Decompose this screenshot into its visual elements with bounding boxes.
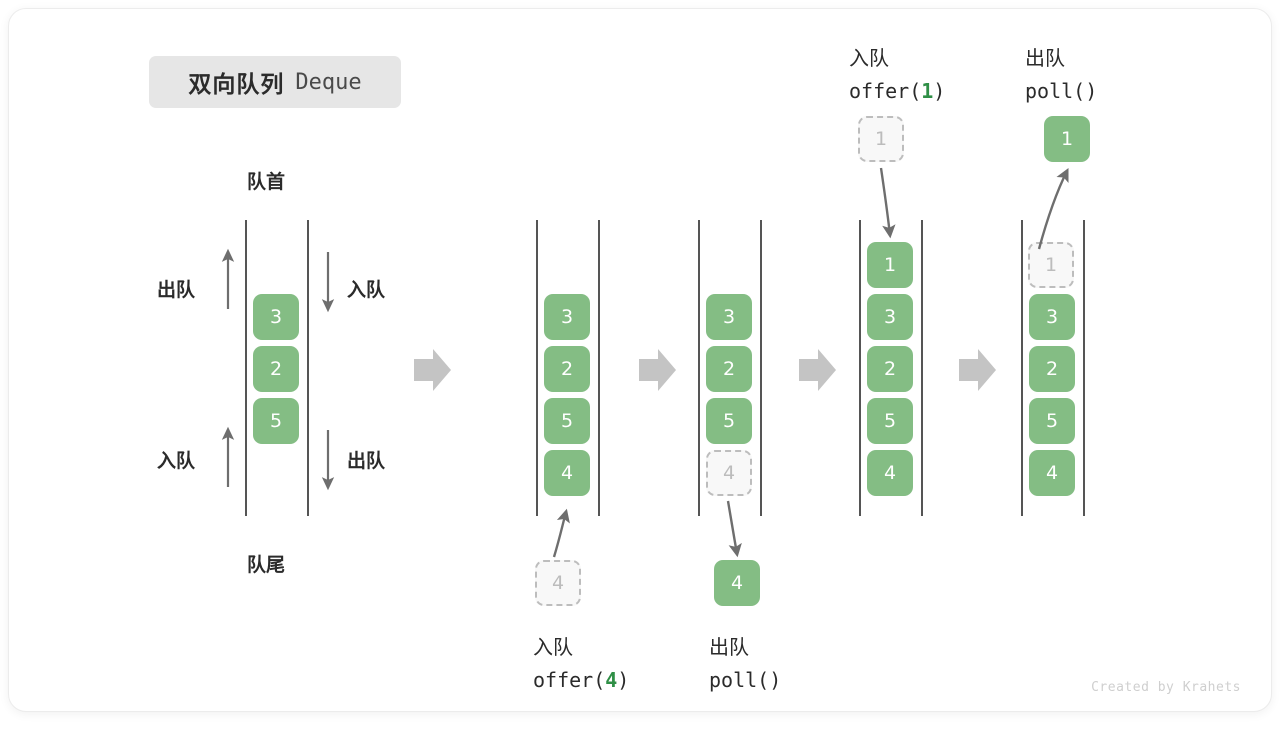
panel3-element-0: 3 bbox=[706, 294, 752, 340]
panel2-rail-left bbox=[536, 220, 538, 516]
panel4-op-call-suffix: ) bbox=[933, 79, 945, 103]
panel3-op-cn: 出队 bbox=[709, 631, 749, 660]
panel1-rail-left bbox=[245, 220, 247, 516]
panel3-rail-right bbox=[760, 220, 762, 516]
diagram-card: 双向队列 Deque 队首 队尾 3 2 5 出队 入队 入队 出队 3 2 5… bbox=[8, 8, 1272, 712]
panel2-ghost-element: 4 bbox=[535, 560, 581, 606]
rear-label: 队尾 bbox=[247, 550, 285, 577]
panel4-element-4: 4 bbox=[867, 450, 913, 496]
panel3-element-1: 2 bbox=[706, 346, 752, 392]
panel3-poll-arrow bbox=[728, 501, 737, 554]
panel4-ghost-element: 1 bbox=[858, 116, 904, 162]
panel2-op-call-suffix: ) bbox=[617, 668, 629, 692]
panel5-poll-arrow bbox=[1039, 171, 1067, 249]
panel5-op-call-prefix: poll( bbox=[1025, 79, 1085, 103]
panel4-element-0: 1 bbox=[867, 242, 913, 288]
panel4-rail-right bbox=[921, 220, 923, 516]
panel1-element-2: 5 bbox=[253, 398, 299, 444]
panel5-element-0: 3 bbox=[1029, 294, 1075, 340]
panel5-element-3: 4 bbox=[1029, 450, 1075, 496]
panel1-right-bottom-label: 出队 bbox=[347, 446, 385, 473]
panel2-op-call-prefix: offer( bbox=[533, 668, 605, 692]
panel5-element-1: 2 bbox=[1029, 346, 1075, 392]
title-badge: 双向队列 Deque bbox=[149, 56, 401, 108]
panel4-rail-left bbox=[859, 220, 861, 516]
panel1-element-1: 2 bbox=[253, 346, 299, 392]
panel3-ghost-element: 4 bbox=[706, 450, 752, 496]
panel3-popped-element: 4 bbox=[714, 560, 760, 606]
panel4-element-3: 5 bbox=[867, 398, 913, 444]
panel2-element-1: 2 bbox=[544, 346, 590, 392]
panel5-op-call-suffix: ) bbox=[1085, 79, 1097, 103]
panel1-left-bottom-label: 入队 bbox=[157, 446, 195, 473]
panel4-element-1: 3 bbox=[867, 294, 913, 340]
panel5-element-2: 5 bbox=[1029, 398, 1075, 444]
panel5-rail-left bbox=[1021, 220, 1023, 516]
panel2-rail-right bbox=[598, 220, 600, 516]
front-label: 队首 bbox=[247, 167, 285, 194]
title-cn: 双向队列 bbox=[188, 65, 284, 99]
panel3-op-call-prefix: poll( bbox=[709, 668, 769, 692]
panel1-left-top-label: 出队 bbox=[157, 275, 195, 302]
panel4-op-call: offer(1) bbox=[849, 79, 945, 103]
transition-arrow-2 bbox=[639, 349, 676, 391]
transition-arrow-1 bbox=[414, 349, 451, 391]
panel5-op-call: poll() bbox=[1025, 79, 1097, 103]
transition-arrow-4 bbox=[959, 349, 996, 391]
panel5-rail-right bbox=[1083, 220, 1085, 516]
panel3-rail-left bbox=[698, 220, 700, 516]
panel2-op-cn: 入队 bbox=[533, 631, 573, 660]
panel2-op-call: offer(4) bbox=[533, 668, 629, 692]
panel2-element-3: 4 bbox=[544, 450, 590, 496]
arrows-overlay bbox=[9, 9, 1280, 729]
panel3-op-call-suffix: ) bbox=[769, 668, 781, 692]
panel2-offer-arrow bbox=[554, 512, 566, 557]
footer-credit: Created by Krahets bbox=[1091, 680, 1241, 695]
panel1-rail-right bbox=[307, 220, 309, 516]
transition-arrow-3 bbox=[799, 349, 836, 391]
panel4-op-arg: 1 bbox=[921, 79, 933, 103]
panel4-op-cn: 入队 bbox=[849, 42, 889, 71]
panel4-offer-arrow bbox=[881, 168, 890, 235]
panel5-op-cn: 出队 bbox=[1025, 42, 1065, 71]
panel4-op-call-prefix: offer( bbox=[849, 79, 921, 103]
panel3-op-call: poll() bbox=[709, 668, 781, 692]
panel2-op-arg: 4 bbox=[605, 668, 617, 692]
panel1-element-0: 3 bbox=[253, 294, 299, 340]
panel2-element-2: 5 bbox=[544, 398, 590, 444]
title-en: Deque bbox=[295, 70, 361, 95]
panel4-element-2: 2 bbox=[867, 346, 913, 392]
panel3-element-2: 5 bbox=[706, 398, 752, 444]
panel1-right-top-label: 入队 bbox=[347, 275, 385, 302]
panel2-element-0: 3 bbox=[544, 294, 590, 340]
panel5-ghost-element: 1 bbox=[1028, 242, 1074, 288]
panel5-popped-element: 1 bbox=[1044, 116, 1090, 162]
diagram-canvas: 双向队列 Deque 队首 队尾 3 2 5 出队 入队 入队 出队 3 2 5… bbox=[0, 0, 1280, 720]
